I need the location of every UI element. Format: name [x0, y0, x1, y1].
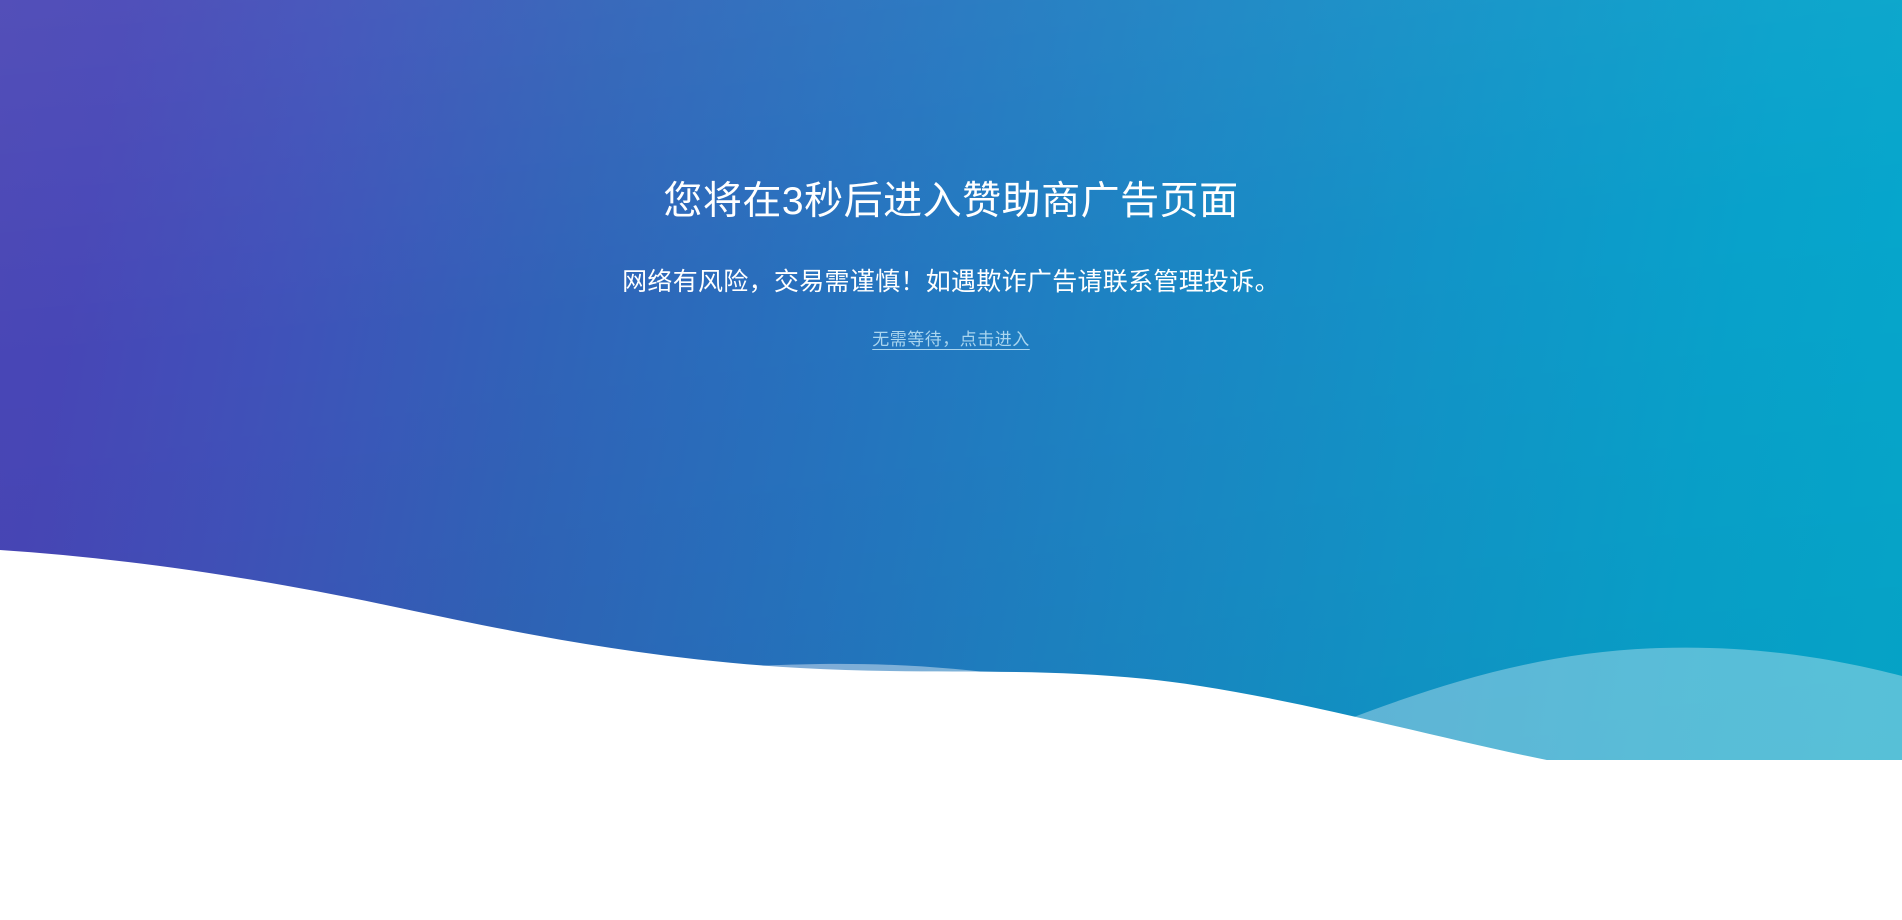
skip-wait-enter-link[interactable]: 无需等待，点击进入 — [872, 330, 1030, 349]
enter-link-container: 无需等待，点击进入 — [0, 300, 1902, 352]
wave-decoration-group — [0, 490, 1902, 920]
page-title: 您将在3秒后进入赞助商广告页面 — [0, 0, 1902, 227]
ad-interstitial-page: 您将在3秒后进入赞助商广告页面 网络有风险，交易需谨慎！如遇欺诈广告请联系管理投… — [0, 0, 1902, 920]
risk-warning-text: 网络有风险，交易需谨慎！如遇欺诈广告请联系管理投诉。 — [0, 227, 1902, 300]
hero-text-block: 您将在3秒后进入赞助商广告页面 网络有风险，交易需谨慎！如遇欺诈广告请联系管理投… — [0, 0, 1902, 352]
